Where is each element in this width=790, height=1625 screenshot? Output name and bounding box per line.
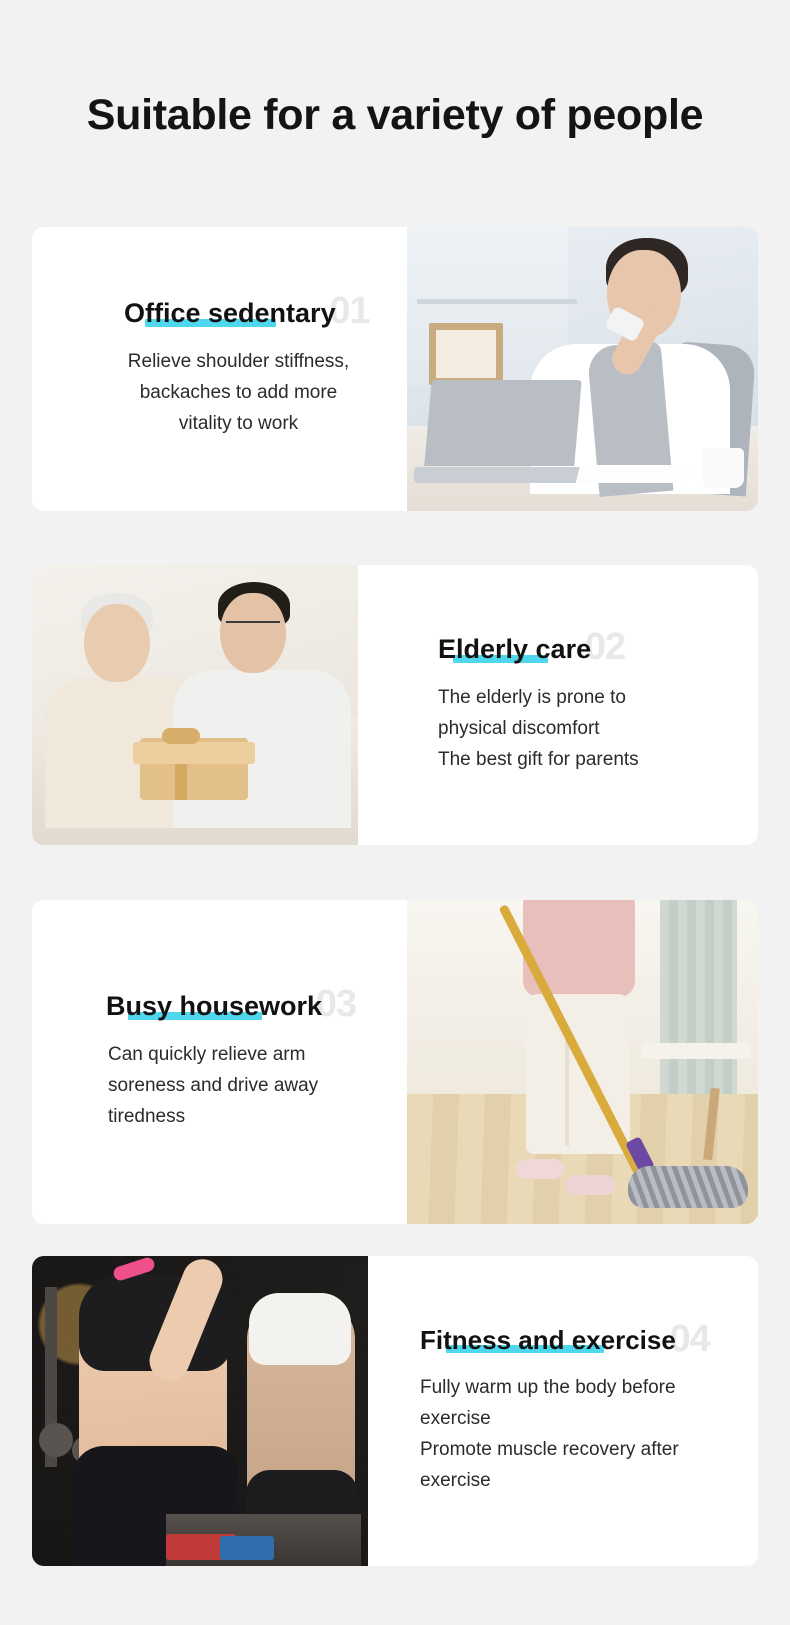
gift-bow [162, 728, 200, 744]
card-text-pane: 02 Elderly care The elderly is prone to … [358, 565, 758, 845]
card-body-text: Fully warm up the body before exercise P… [420, 1373, 679, 1496]
card-photo-pane [32, 1256, 368, 1566]
card-photo-pane [32, 565, 358, 845]
mop-head [628, 1166, 748, 1208]
side-table-top [641, 1043, 751, 1059]
card-heading-wrap: 02 Elderly care [438, 634, 591, 665]
promo-page: Suitable for a variety of people 01 Offi… [0, 0, 790, 1625]
younger-person-head [220, 593, 286, 673]
equipment-panel-blue [220, 1536, 274, 1560]
card-office-sedentary: 01 Office sedentary Relieve shoulder sti… [32, 227, 758, 511]
card-heading-wrap: 04 Fitness and exercise [420, 1326, 676, 1356]
card-text-pane: 04 Fitness and exercise Fully warm up th… [368, 1256, 758, 1566]
coffee-cup [702, 448, 744, 488]
eyeglasses-shape [226, 621, 280, 633]
card-body-text: Can quickly relieve arm soreness and dri… [80, 1040, 318, 1132]
page-title: Suitable for a variety of people [0, 92, 790, 139]
slipper-right [565, 1175, 615, 1195]
laptop-base [414, 467, 596, 483]
woman-mopping-floor-photo [407, 900, 758, 1224]
card-text-pane: 03 Busy housework Can quickly relieve ar… [32, 900, 407, 1224]
slipper-left [516, 1159, 564, 1179]
card-busy-housework: 03 Busy housework Can quickly relieve ar… [32, 900, 758, 1224]
pants-seam [565, 1036, 569, 1146]
card-elderly-care: 02 Elderly care The elderly is prone to … [32, 565, 758, 845]
card-body-text: Relieve shoulder stiffness, backaches to… [94, 347, 379, 439]
card-photo-pane [407, 227, 758, 511]
elderly-man-receiving-gift-photo [32, 565, 358, 845]
card-text-pane: 01 Office sedentary Relieve shoulder sti… [32, 227, 407, 511]
gym-fitness-workout-photo [32, 1256, 368, 1566]
card-heading: Fitness and exercise [420, 1326, 676, 1356]
elderly-person-head [84, 604, 150, 682]
card-fitness-and-exercise: 04 Fitness and exercise Fully warm up th… [32, 1256, 758, 1566]
card-body-text: The elderly is prone to physical discomf… [438, 683, 639, 775]
second-person-top [249, 1293, 351, 1365]
card-photo-pane [407, 900, 758, 1224]
office-desk-woman-neck-pain-photo [407, 227, 758, 511]
shelf-line [417, 299, 577, 304]
weight-plate [39, 1423, 73, 1457]
paper-sheet [576, 465, 690, 483]
picture-frame-shape [429, 323, 503, 385]
card-heading: Elderly care [438, 634, 591, 665]
laptop-screen [424, 380, 582, 466]
card-heading: Office sedentary [124, 298, 336, 329]
card-heading: Busy housework [106, 991, 322, 1022]
card-heading-wrap: 03 Busy housework [106, 991, 322, 1022]
gift-box-lid [133, 742, 255, 764]
card-heading-wrap: 01 Office sedentary [124, 298, 336, 329]
